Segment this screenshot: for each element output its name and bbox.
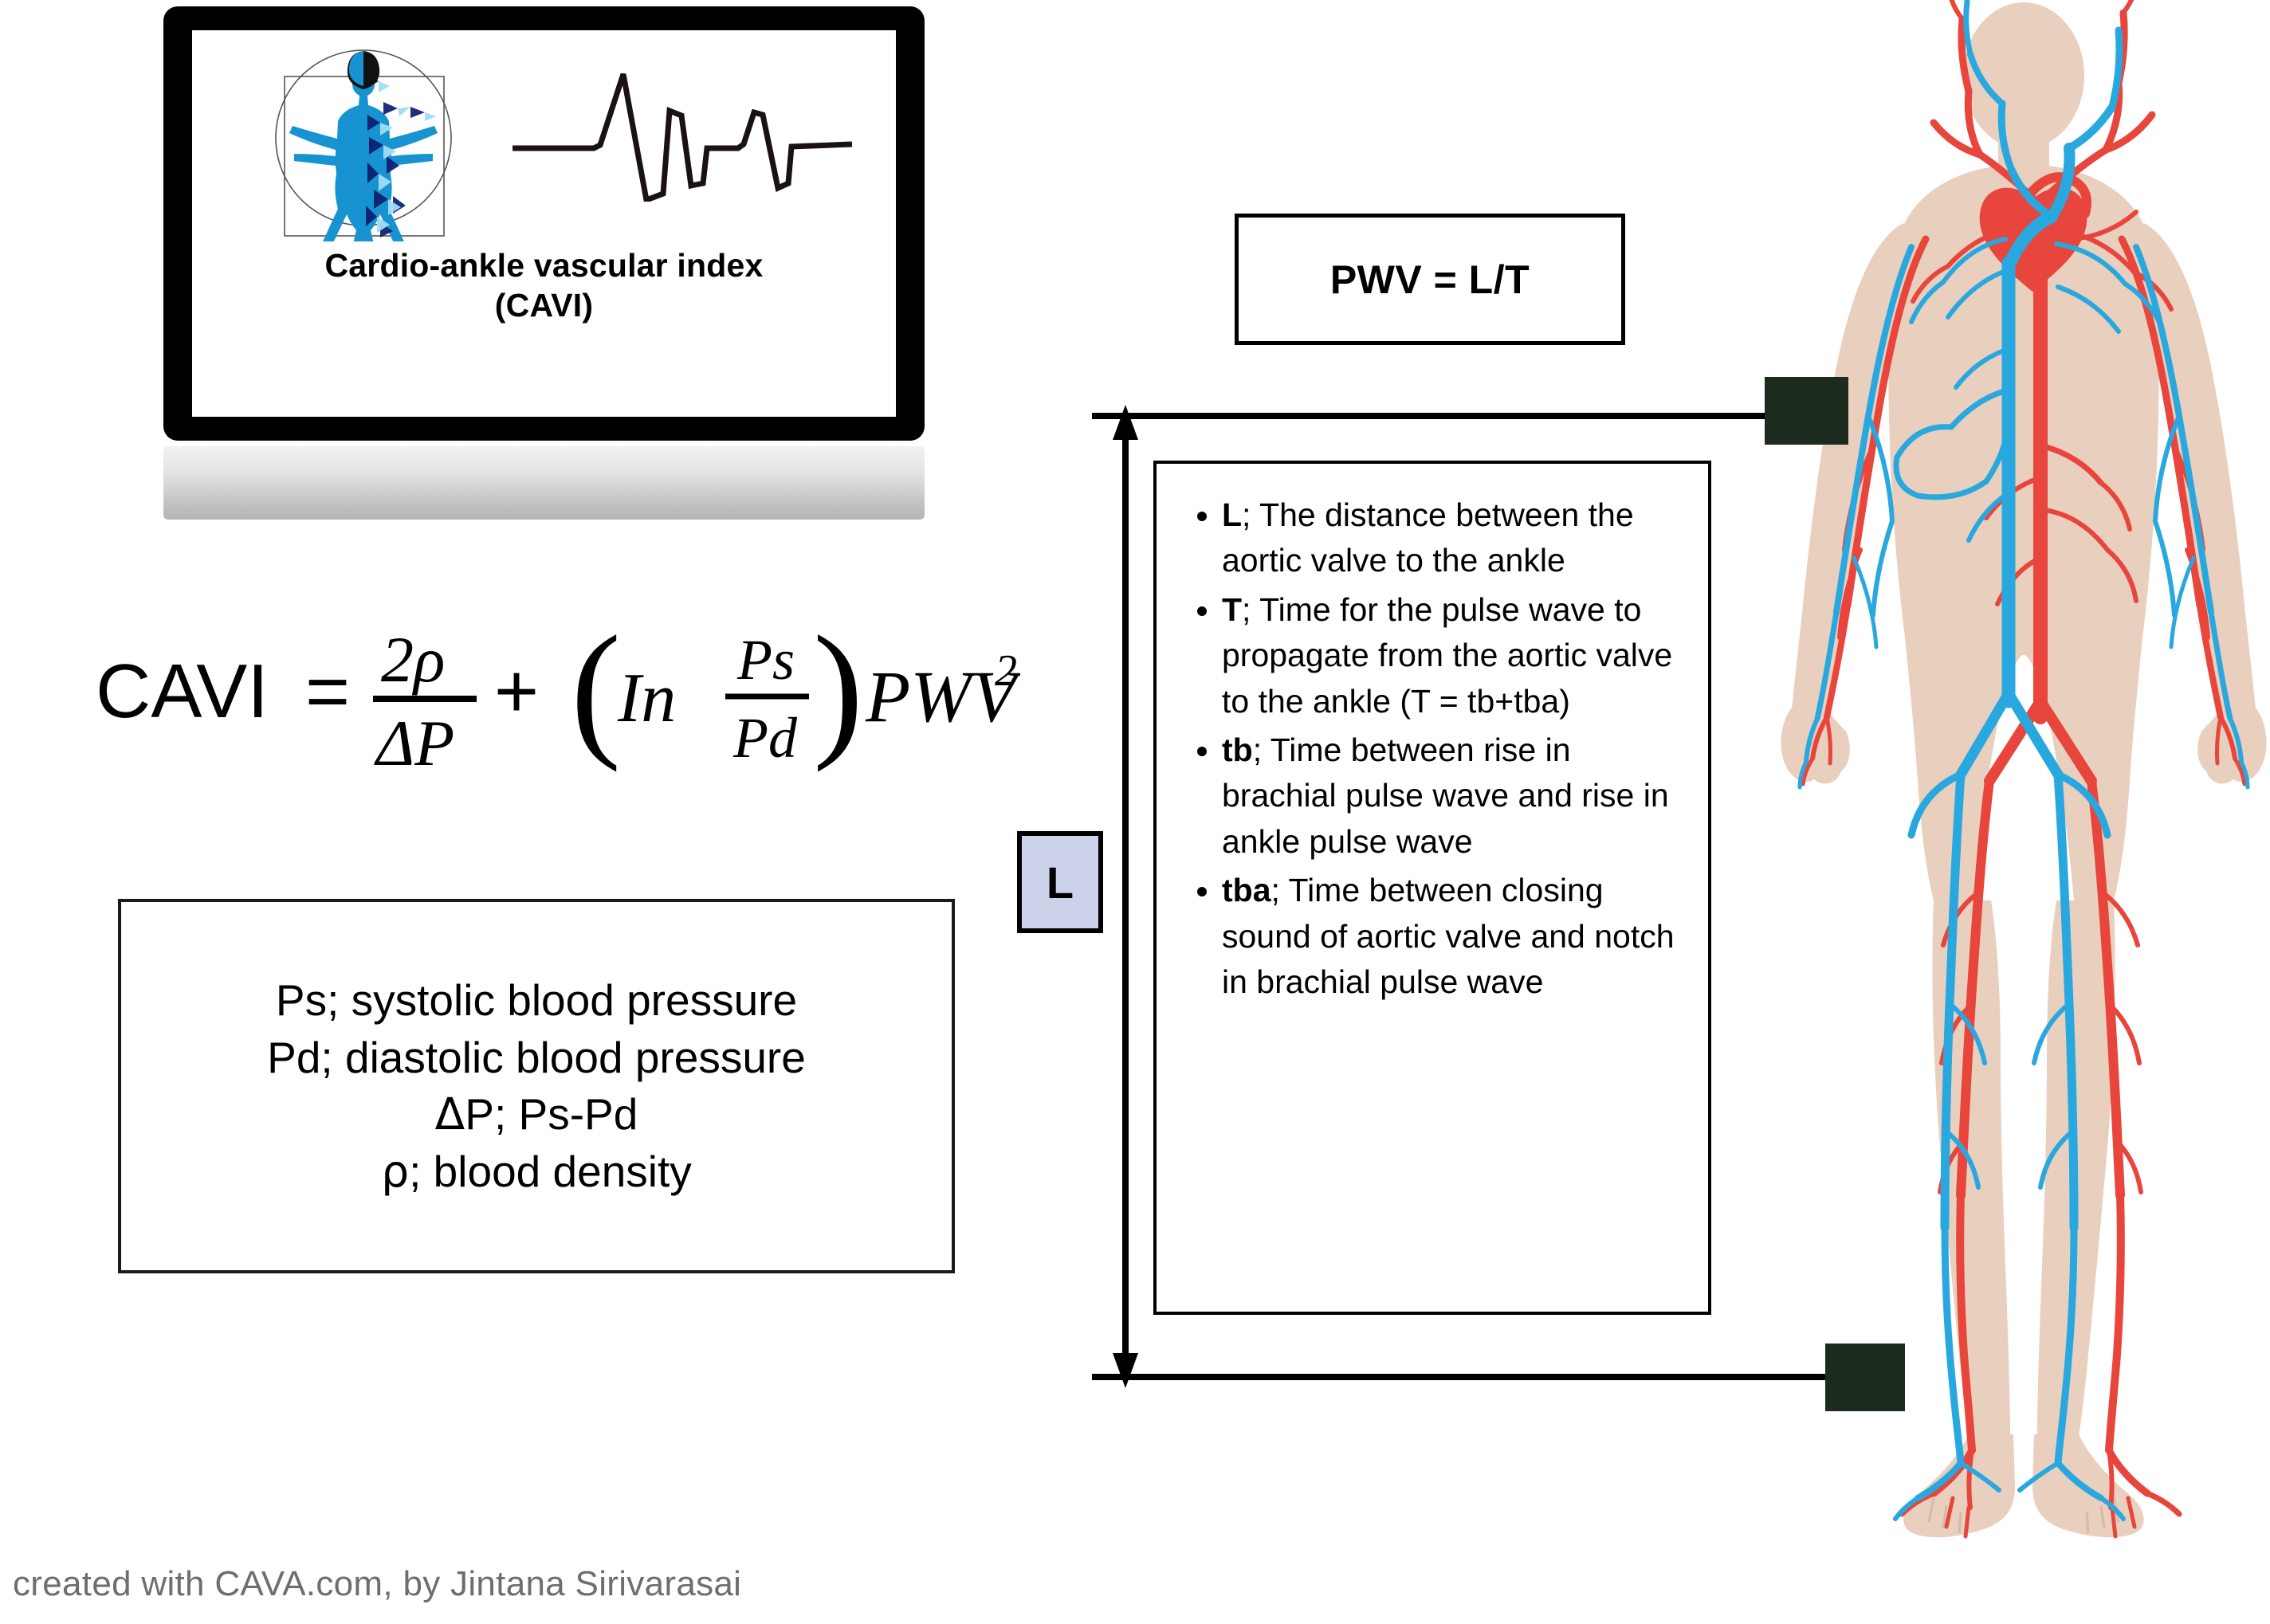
formula-exponent: 2 [995, 646, 1017, 696]
delta-symbol: Δ [435, 1089, 465, 1140]
monitor-title-line-2: (CAVI) [192, 285, 896, 325]
human-vascular-system-illustration [1777, 0, 2270, 1562]
definitions-box: Ps; systolic blood pressure Pd; diastoli… [118, 899, 955, 1273]
pwv-formula-box: PWV = L/T [1235, 214, 1625, 345]
definition-pd: Pd; diastolic blood pressure [267, 1030, 806, 1087]
monitor-bezel: Cardio-ankle vascular index (CAVI) [163, 6, 925, 441]
brachial-cuff [1765, 377, 1848, 445]
formula-numerator: 2ρ [381, 623, 445, 696]
definition-delta-p-text: P; Ps-Pd [465, 1089, 638, 1139]
monitor-title-line-1: Cardio-ankle vascular index [192, 245, 896, 285]
monitor-screen: Cardio-ankle vascular index (CAVI) [192, 30, 896, 417]
formula-equals: = [305, 649, 350, 734]
formula-paren-close: ) [813, 606, 863, 773]
vitruvian-man-icon [262, 38, 465, 241]
pwv-formula-text: PWV = L/T [1330, 257, 1530, 303]
cavi-formula: CAVI = 2ρ ΔP + ( In Ps Pd ) PWV 2 [96, 606, 1020, 781]
cavi-monitor-illustration: Cardio-ankle vascular index (CAVI) [163, 6, 925, 441]
definition-ps: Ps; systolic blood pressure [276, 972, 797, 1030]
length-label-text: L [1047, 857, 1074, 908]
ankle-cuff [1825, 1344, 1905, 1411]
length-label-badge: L [1017, 831, 1103, 933]
rho-symbol: ρ [381, 1146, 409, 1197]
formula-paren-open: ( [571, 606, 621, 773]
definition-rho: ρ; blood density [381, 1143, 692, 1201]
formula-plus: + [494, 649, 539, 734]
definition-rho-text: ; blood density [409, 1147, 692, 1196]
monitor-stand [163, 446, 925, 520]
formula-ratio-numerator: Ps [736, 628, 795, 692]
formula-ln: In [617, 660, 676, 737]
formula-ratio-denominator: Pd [732, 706, 798, 770]
footer-credit: created with CAVA.com, by Jintana Siriva… [13, 1564, 741, 1604]
monitor-title: Cardio-ankle vascular index (CAVI) [192, 245, 896, 325]
formula-label: CAVI [96, 649, 269, 734]
definition-delta-p: ΔP; Ps-Pd [435, 1086, 638, 1143]
ecg-waveform-icon [511, 62, 854, 202]
formula-denominator: ΔP [374, 707, 454, 779]
